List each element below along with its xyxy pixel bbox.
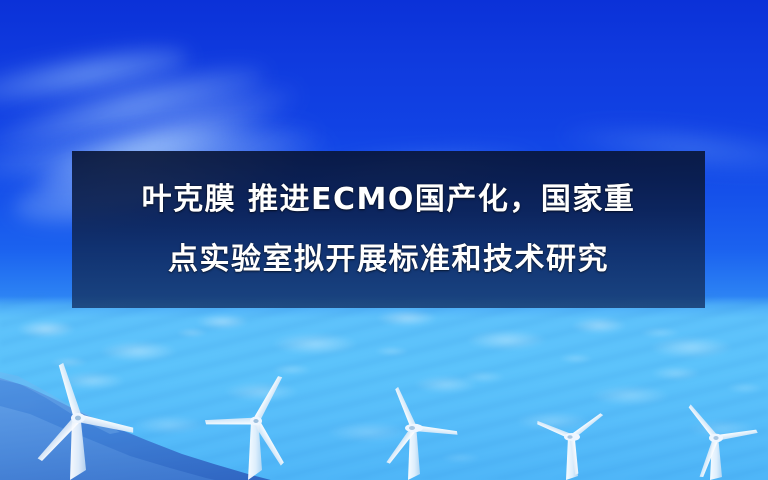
- cloud-texture-detail: [0, 296, 768, 480]
- headline-line-1: 叶克膜 推进ECMO国产化，国家重: [142, 170, 636, 230]
- cloud-sea: [0, 296, 768, 480]
- headline-overlay-box: 叶克膜 推进ECMO国产化，国家重 点实验室拟开展标准和技术研究: [72, 151, 705, 308]
- banner-image: 叶克膜 推进ECMO国产化，国家重 点实验室拟开展标准和技术研究: [0, 0, 768, 480]
- headline-line-2: 点实验室拟开展标准和技术研究: [168, 230, 609, 290]
